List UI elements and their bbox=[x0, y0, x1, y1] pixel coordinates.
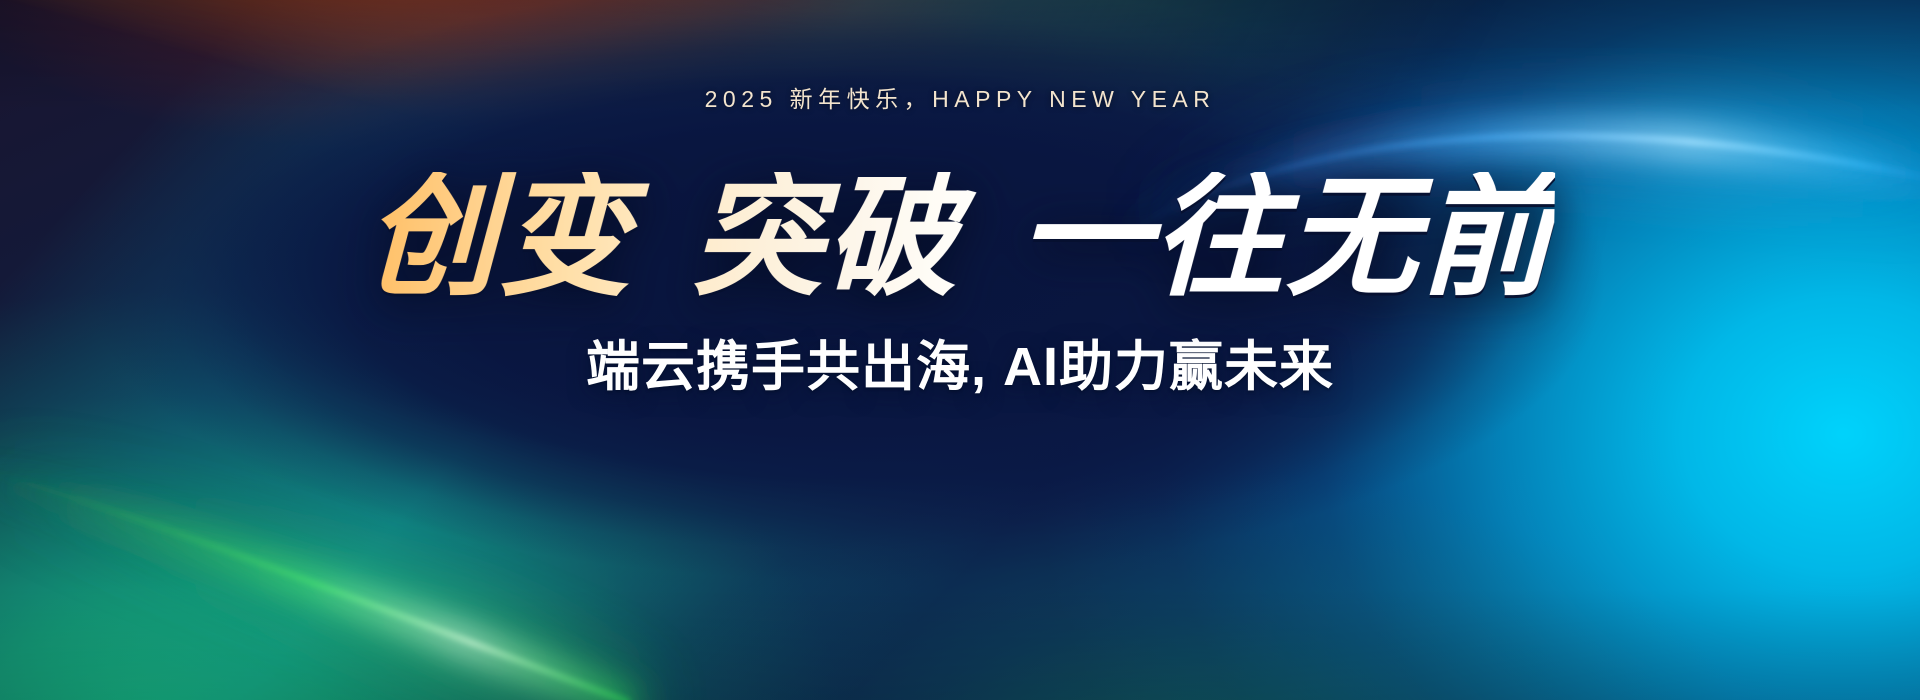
eyebrow-greeting: 2025 新年快乐，HAPPY NEW YEAR bbox=[705, 80, 1216, 114]
headline-part-1: 创变 bbox=[364, 164, 635, 311]
headline-space-1 bbox=[632, 164, 693, 311]
new-year-banner: 2025 新年快乐，HAPPY NEW YEAR 创变 突破 一往无前 端云携手… bbox=[0, 0, 1920, 700]
headline: 创变 突破 一往无前 bbox=[364, 172, 1556, 304]
headline-space-2 bbox=[959, 164, 1020, 311]
headline-part-2: 突破 bbox=[691, 164, 962, 311]
banner-content: 2025 新年快乐，HAPPY NEW YEAR 创变 突破 一往无前 端云携手… bbox=[0, 0, 1920, 700]
headline-part-3: 一往无前 bbox=[1017, 164, 1556, 311]
subtitle: 端云携手共出海, AI助力赢未来 bbox=[586, 340, 1334, 394]
